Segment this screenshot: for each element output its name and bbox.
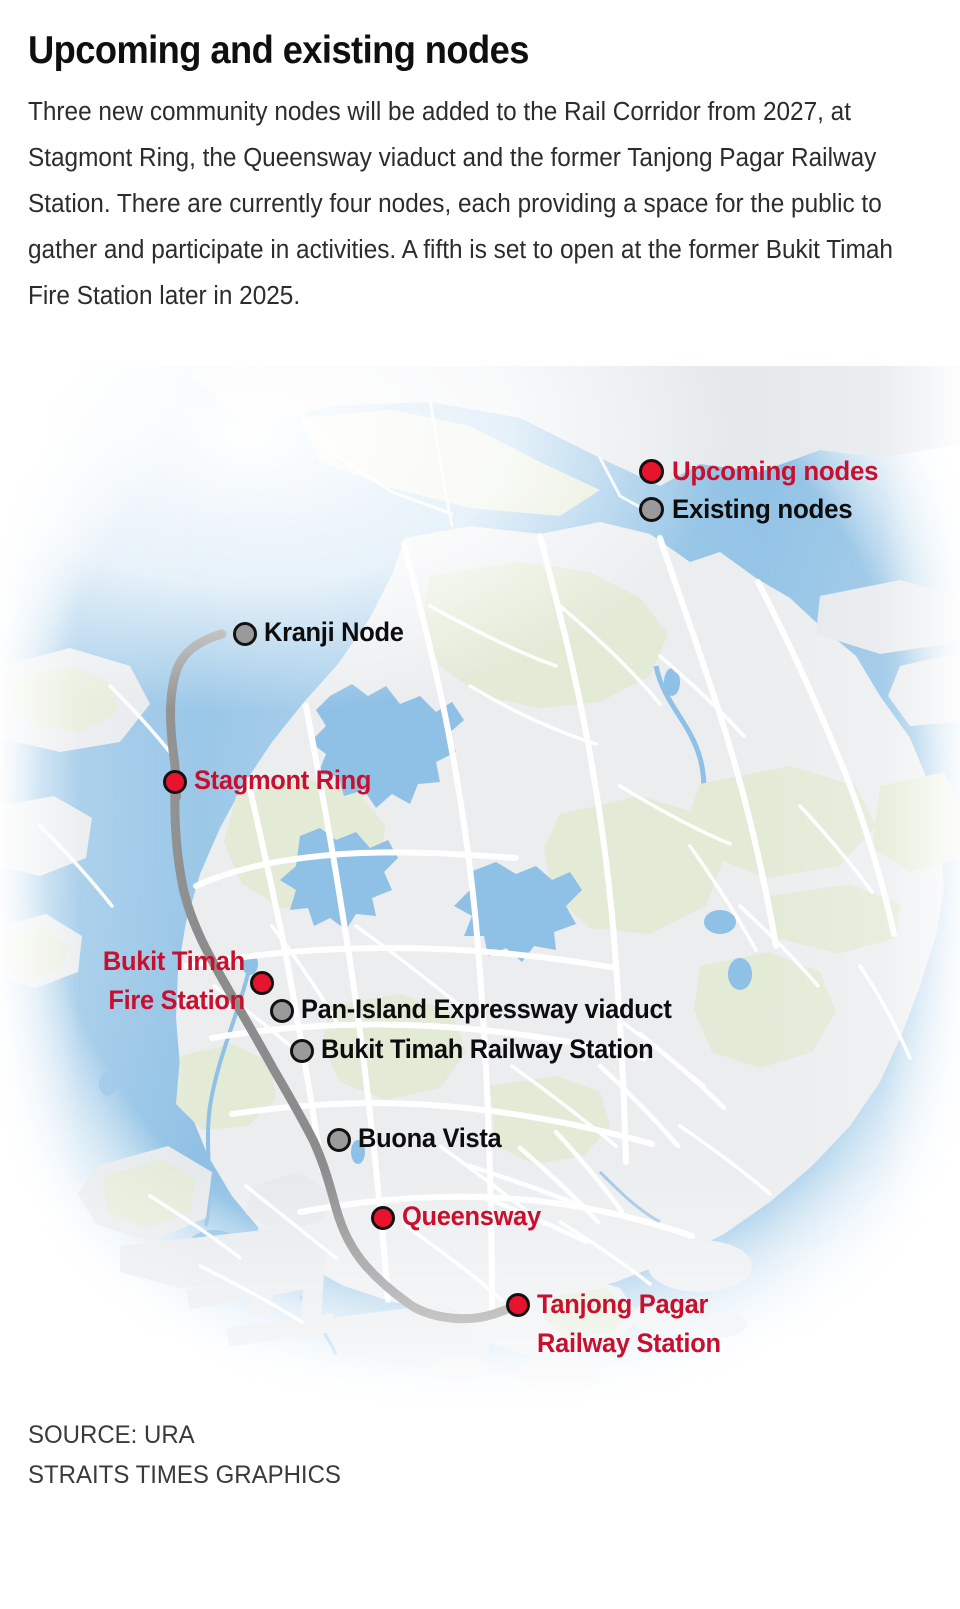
map-node-label: Bukit TimahFire Station — [103, 942, 245, 1020]
existing-node-icon[interactable] — [270, 999, 294, 1023]
legend-item-upcoming: Upcoming nodes — [639, 452, 939, 490]
map-node-label: Tanjong PagarRailway Station — [537, 1285, 721, 1363]
legend-label-existing: Existing nodes — [672, 494, 852, 525]
existing-node-icon[interactable] — [233, 622, 257, 646]
map-node-label-line: Kranji Node — [264, 613, 404, 652]
source-credit: SOURCE: URA STRAITS TIMES GRAPHICS — [28, 1415, 341, 1495]
standfirst-text: Three new community nodes will be added … — [28, 89, 935, 319]
map-node-label-line: Railway Station — [537, 1324, 721, 1363]
upcoming-node-icon[interactable] — [371, 1206, 395, 1230]
upcoming-node-icon[interactable] — [163, 770, 187, 794]
source-line-1: SOURCE: URA — [28, 1415, 341, 1455]
map-node-label: Buona Vista — [358, 1119, 501, 1158]
map-node-label-line: Bukit Timah — [103, 942, 245, 981]
existing-node-icon[interactable] — [327, 1128, 351, 1152]
map-node-label-line: Tanjong Pagar — [537, 1285, 721, 1324]
page-title: Upcoming and existing nodes — [28, 30, 865, 72]
map-node-label: Stagmont Ring — [194, 761, 371, 800]
map-node-label: Bukit Timah Railway Station — [321, 1030, 653, 1069]
map-node-label-line: Buona Vista — [358, 1119, 501, 1158]
map-node-label-line: Queensway — [402, 1197, 541, 1236]
legend: Upcoming nodes Existing nodes — [639, 452, 939, 528]
map-node-label: Queensway — [402, 1197, 541, 1236]
map-node-label-line: Pan-Island Expressway viaduct — [301, 990, 672, 1029]
map-node-label-line: Stagmont Ring — [194, 761, 371, 800]
header: Upcoming and existing nodes Three new co… — [0, 0, 960, 319]
existing-node-icon[interactable] — [290, 1039, 314, 1063]
source-line-2: STRAITS TIMES GRAPHICS — [28, 1455, 341, 1495]
map-node-label-line: Fire Station — [103, 981, 245, 1020]
map-node-label-line: Bukit Timah Railway Station — [321, 1030, 653, 1069]
upcoming-node-icon — [639, 459, 664, 484]
map-node-label: Kranji Node — [264, 613, 404, 652]
upcoming-node-icon[interactable] — [506, 1293, 530, 1317]
existing-node-icon — [639, 497, 664, 522]
upcoming-node-icon[interactable] — [250, 971, 274, 995]
map-node-label: Pan-Island Expressway viaduct — [301, 990, 672, 1029]
legend-label-upcoming: Upcoming nodes — [672, 456, 878, 487]
legend-item-existing: Existing nodes — [639, 490, 939, 528]
infographic-page: Upcoming and existing nodes Three new co… — [0, 0, 960, 1609]
